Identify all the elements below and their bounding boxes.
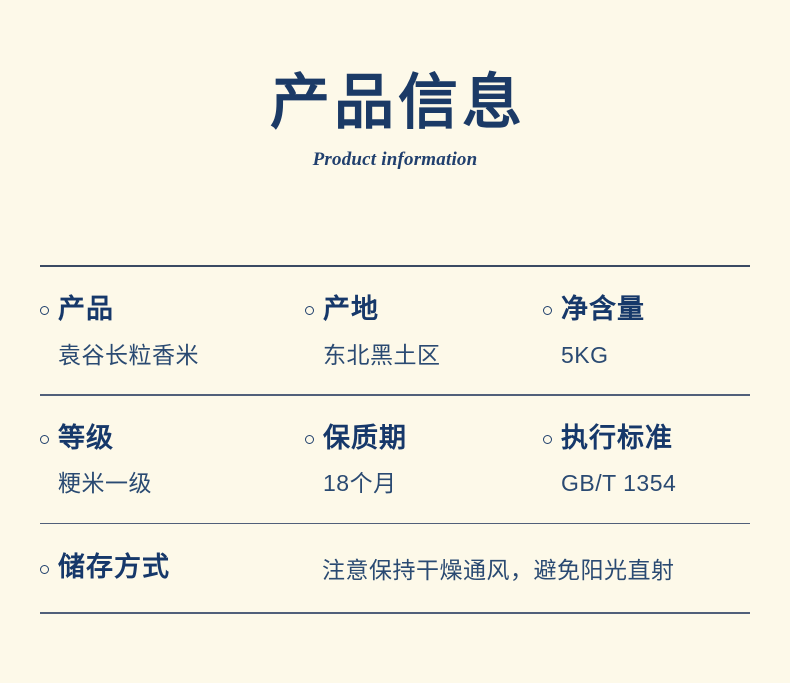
page-subtitle: Product information [0,135,790,171]
circle-outline-icon [40,435,49,444]
spec-label: 产品 [58,295,114,325]
spec-label: 储存方式 [58,553,170,583]
circle-outline-icon [40,306,49,315]
spec-label: 产地 [323,295,379,325]
spec-cell-net-weight: 净含量 5KG [543,295,750,394]
spec-value: 粳米一级 [40,453,305,498]
spec-value: GB/T 1354 [543,453,750,498]
spec-row: 产品 袁谷长粒香米 产地 东北黑土区 净含量 5KG [40,267,750,394]
page-header: 产品信息 Product information [0,0,790,171]
spec-cell-shelf-life: 保质期 18个月 [305,424,543,523]
spec-label: 保质期 [323,424,407,454]
page-title: 产品信息 [0,72,790,135]
circle-outline-icon [543,435,552,444]
spec-label: 等级 [58,424,114,454]
spec-value: 18个月 [305,453,543,498]
spec-label-line: 等级 [40,424,305,454]
spec-value: 5KG [543,325,750,370]
circle-outline-icon [305,435,314,444]
divider-bottom [40,612,750,614]
spec-cell-grade: 等级 粳米一级 [40,424,305,523]
spec-label: 净含量 [561,295,645,325]
spec-label: 执行标准 [561,424,673,454]
circle-outline-icon [543,306,552,315]
spec-cell-origin: 产地 东北黑土区 [305,295,543,394]
spec-label-line: 产品 [40,295,305,325]
spec-cell-product: 产品 袁谷长粒香米 [40,295,305,394]
product-spec-table: 产品 袁谷长粒香米 产地 东北黑土区 净含量 5KG 等级 [40,265,750,614]
spec-value: 东北黑土区 [305,325,543,370]
spec-cell-storage: 储存方式 [40,553,322,583]
spec-row: 储存方式 注意保持干燥通风，避免阳光直射 [40,524,750,612]
spec-label-line: 执行标准 [543,424,750,454]
spec-row: 等级 粳米一级 保质期 18个月 执行标准 GB/T 1354 [40,396,750,523]
spec-value: 袁谷长粒香米 [40,325,305,370]
spec-label-line: 产地 [305,295,543,325]
spec-label-line: 净含量 [543,295,750,325]
circle-outline-icon [305,306,314,315]
spec-cell-standard: 执行标准 GB/T 1354 [543,424,750,523]
spec-value: 注意保持干燥通风，避免阳光直射 [322,551,675,585]
spec-label-line: 保质期 [305,424,543,454]
circle-outline-icon [40,565,49,574]
